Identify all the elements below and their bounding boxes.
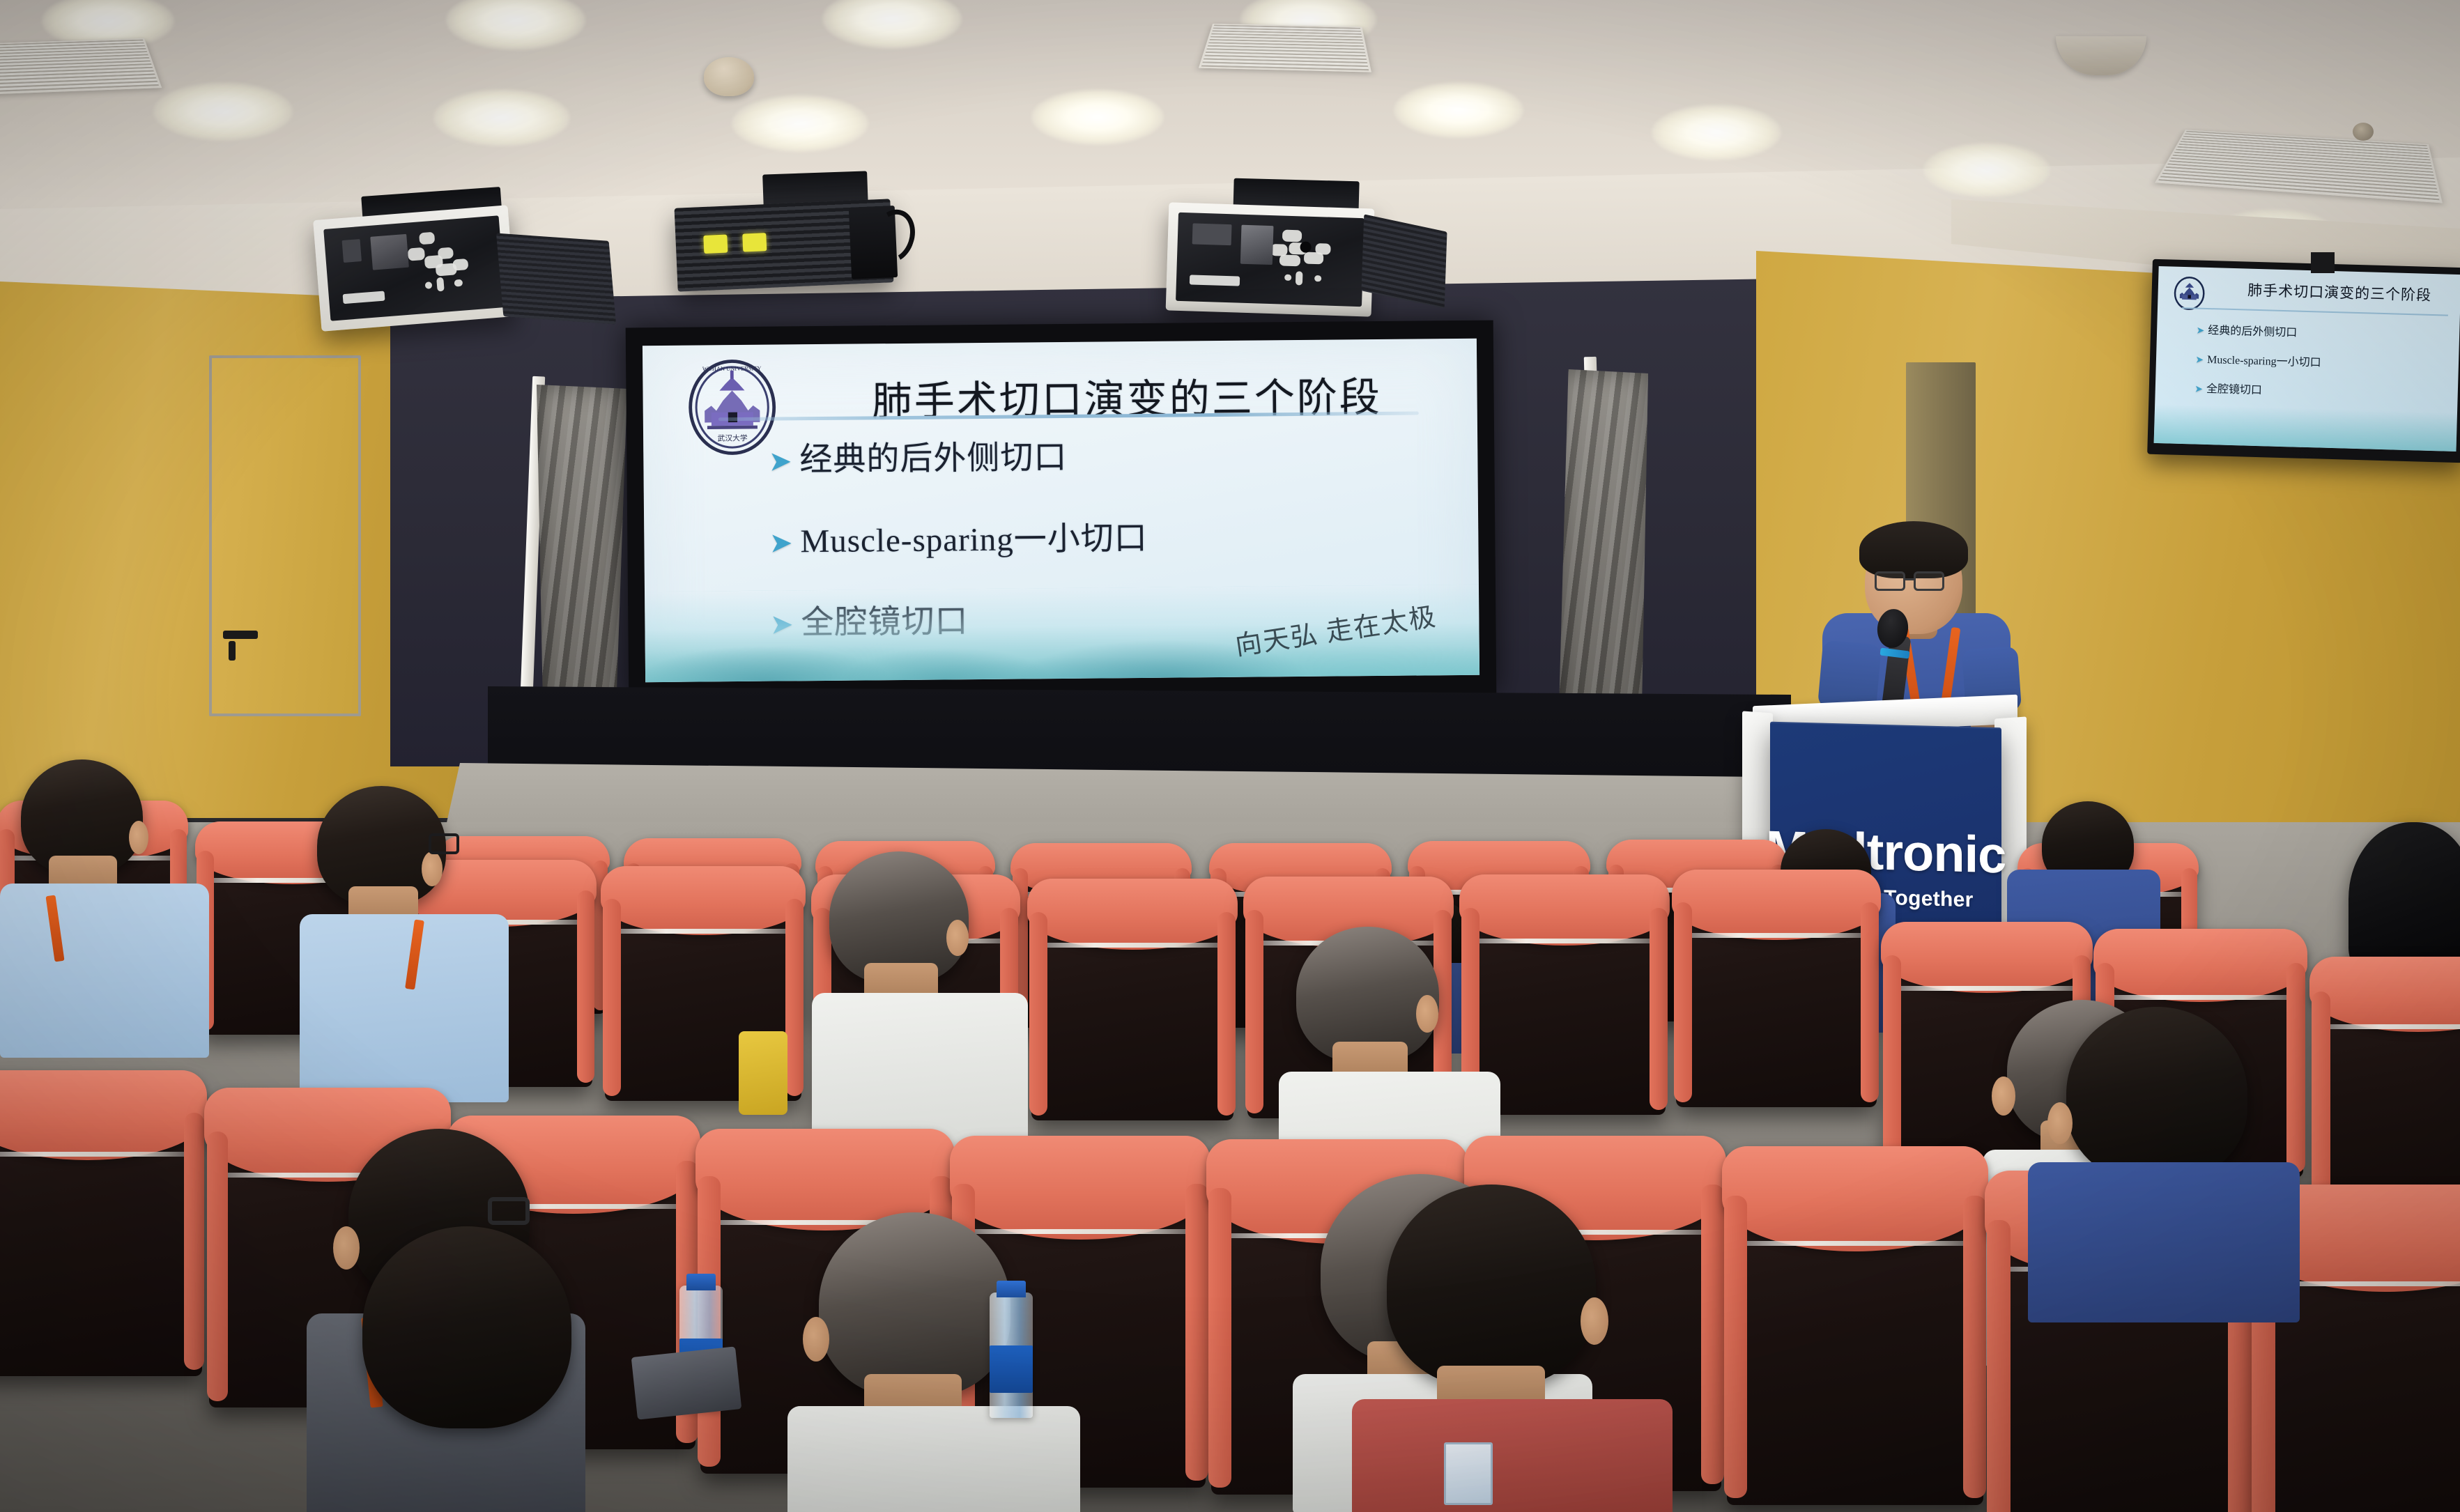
projector-indicator [742,233,767,252]
audience-member-head [2066,1007,2247,1181]
audience-member-ear [129,821,148,854]
downlight [1923,143,2050,197]
bullet-arrow-icon: ➤ [769,447,793,475]
tv-bullet-text: Muscle-sparing一小切口 [2207,350,2321,370]
laptop-device[interactable] [631,1346,742,1419]
auditorium-seat[interactable] [2314,962,2460,1212]
downlight [1394,82,1523,138]
projector-center [675,199,894,291]
tv-bullet-text: 全腔镜切口 [2206,379,2263,397]
audience-member-head [1387,1185,1596,1387]
bullet-arrow-icon: ➤ [2196,327,2204,337]
audience-member-ear [2047,1102,2073,1144]
audience-member-ear [1581,1297,1608,1345]
bottle-label [990,1345,1033,1393]
audience-member-body [787,1406,1080,1512]
audience-member-ear [946,920,969,956]
tv-bullet-item: ➤ 经典的后外侧切口 [2196,321,2450,344]
ceiling-air-vent [1199,24,1371,72]
yellow-bag [739,1031,787,1115]
ceiling-air-vent [0,38,162,95]
audience-member-badge [1444,1442,1493,1505]
lecture-hall-photo: WUHAN UNIVERSITY 武汉大学 肺手术切口演变的三个阶段 ➤ 经典的… [0,0,2460,1512]
sprinkler-head [2353,123,2374,141]
projector-right [1166,202,1375,316]
water-bottle[interactable] [990,1293,1033,1418]
tv-bullet-item: ➤ 全腔镜切口 [2194,379,2449,403]
projection-screen-frame: WUHAN UNIVERSITY 武汉大学 肺手术切口演变的三个阶段 ➤ 经典的… [626,321,1497,701]
downlight [732,95,868,152]
smoke-detector [704,57,754,96]
bullet-arrow-icon: ➤ [2194,385,2203,395]
audience-member-head [362,1226,571,1428]
audience-member-body [0,884,209,1058]
door-lock [229,641,236,661]
side-door[interactable] [209,355,361,716]
tv-bullet-text: 经典的后外侧切口 [2208,321,2298,340]
tv-bullet-list: ➤ 经典的后外侧切口 ➤ Muscle-sparing一小切口 ➤ 全腔镜切口 [2194,321,2450,415]
audience-member-ear [422,851,443,886]
audience-member-glasses [429,833,459,854]
projector-indicator [704,234,728,253]
slide-bullet-item: ➤ 经典的后外侧切口 [769,426,1420,480]
auditorium-seat[interactable] [1676,874,1877,1107]
audience-member-body [300,914,509,1102]
tv-title-rule [2182,307,2448,316]
speaker-hair [1859,521,1968,578]
auditorium-seat[interactable] [1727,1153,1983,1505]
wuhan-university-seal-icon [2173,275,2206,312]
tv-slide-title: 肺手术切口演变的三个阶段 [2224,279,2455,306]
tv-screen: 肺手术切口演变的三个阶段 ➤ 经典的后外侧切口 ➤ Muscle-sparing… [2154,266,2460,452]
tv-wall-mount [2311,252,2335,273]
projector-left [313,205,516,331]
wuhan-university-seal-icon: WUHAN UNIVERSITY 武汉大学 [686,356,778,463]
slide-bullet-text: Muscle-sparing一小切口 [800,510,1148,561]
projector-left-wing [496,233,616,325]
downlight [1031,89,1164,145]
wall-mounted-tv: 肺手术切口演变的三个阶段 ➤ 经典的后外侧切口 ➤ Muscle-sparing… [2147,259,2460,463]
downlight [153,82,293,141]
bottle-cap [686,1274,716,1290]
speaker-glasses [1875,571,1905,591]
slide-bullet-item: ➤ Muscle-sparing一小切口 [769,508,1420,562]
backpack [2348,822,2460,975]
audience-member-body [1352,1399,1673,1512]
tv-bullet-item: ➤ Muscle-sparing一小切口 [2195,350,2450,373]
bullet-arrow-icon: ➤ [2195,356,2204,366]
audience-member-glasses [488,1197,530,1225]
door-handle[interactable] [223,631,258,639]
tv-landscape-artwork [2154,404,2457,452]
audience-member-ear [333,1226,360,1270]
audience-member-body [2028,1162,2300,1322]
audience-member-ear [1992,1077,2015,1116]
audience-member-head [819,1212,1010,1397]
speaker-glasses-bridge [1905,578,1915,580]
audience-member-ear [1416,995,1438,1033]
speaker-glasses [1914,571,1944,591]
bottle-cap [997,1281,1026,1297]
auditorium-seat[interactable] [1031,884,1233,1120]
downlight [433,89,570,146]
svg-text:WUHAN UNIVERSITY: WUHAN UNIVERSITY [702,365,762,372]
auditorium-seat[interactable] [0,1077,202,1376]
bullet-arrow-icon: ➤ [769,529,794,557]
svg-text:武汉大学: 武汉大学 [718,433,748,442]
slide-bullet-text: 经典的后外侧切口 [799,429,1068,479]
presentation-slide: WUHAN UNIVERSITY 武汉大学 肺手术切口演变的三个阶段 ➤ 经典的… [643,339,1479,682]
audience-member-ear [803,1317,829,1361]
downlight [1652,105,1781,160]
